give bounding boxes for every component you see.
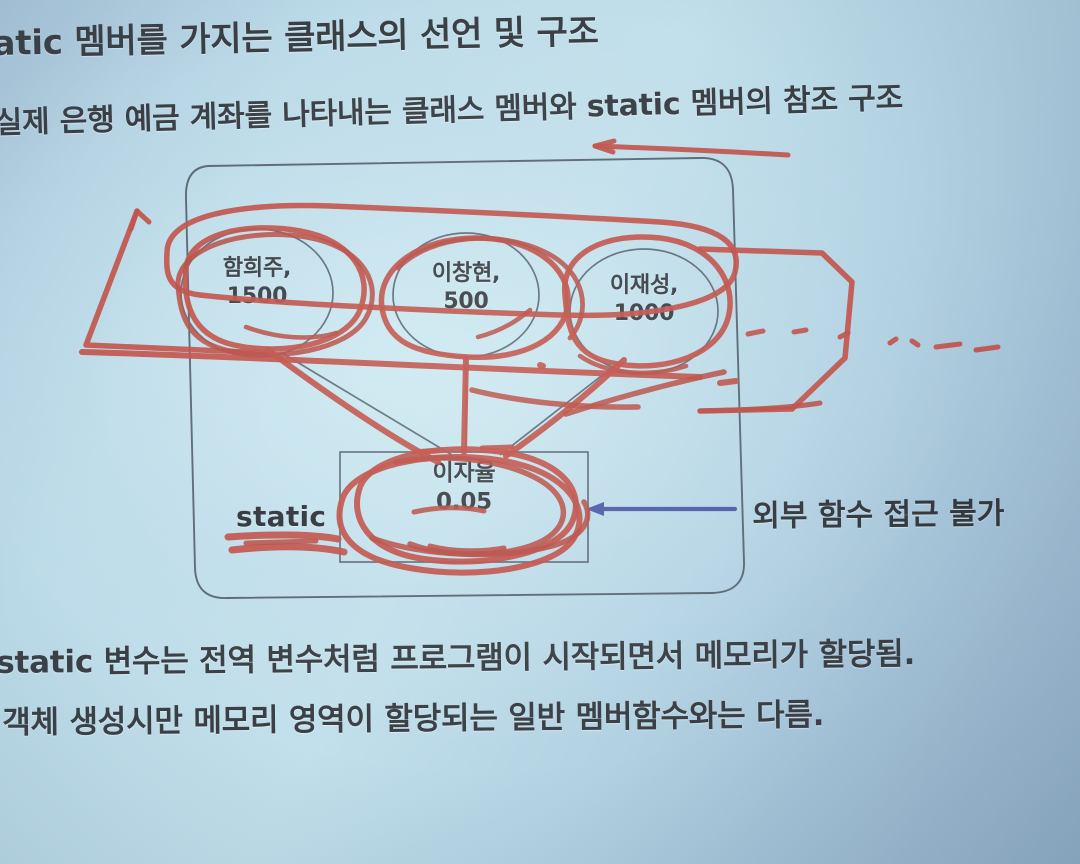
slide-footer-line-2: 객체 생성시만 메모리 영역이 할당되는 일반 멤버함수와는 다름. xyxy=(2,689,824,742)
blue-arrow-head xyxy=(586,502,604,516)
slide-canvas: 함희주, 1500 이창현, 500 이재성, 1000 이자율 0.05 st… xyxy=(0,0,1080,864)
slide-footer-line-1: static 변수는 전역 변수처럼 프로그램이 시작되면서 메모리가 할당됨. xyxy=(0,628,915,682)
